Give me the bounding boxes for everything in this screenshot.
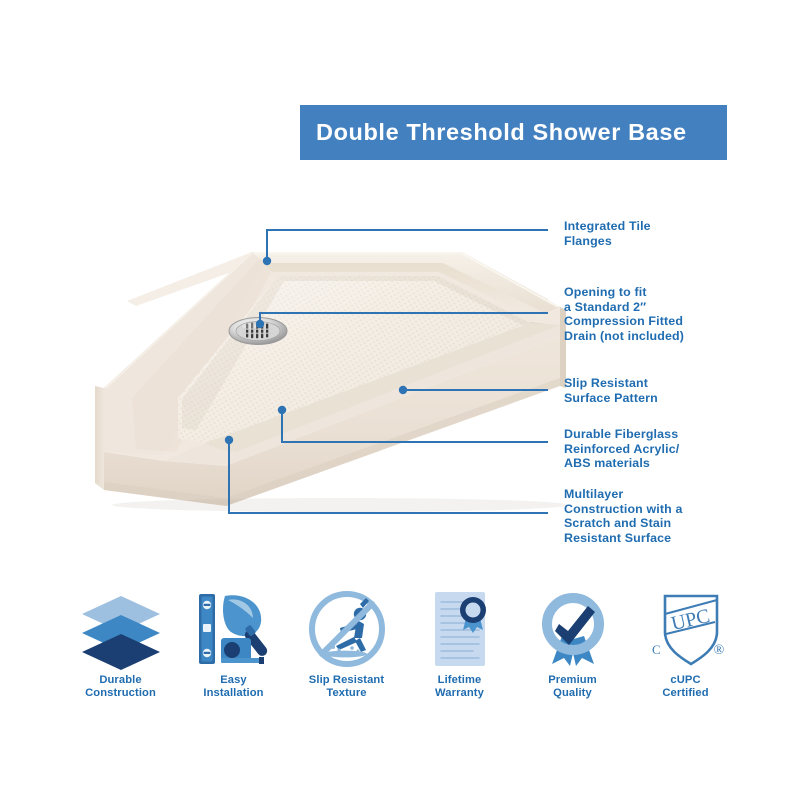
- infographic-canvas: Double Threshold Shower Base Integrated …: [0, 0, 806, 806]
- no-slip-icon: [300, 588, 394, 670]
- upc-shield-band-text: UPC: [669, 605, 712, 635]
- leader-dot-slip-resistant-surface: [399, 386, 407, 394]
- callout-drain-opening: Opening to fit a Standard 2″ Compression…: [564, 285, 684, 343]
- leader-line-drain-opening: [260, 313, 548, 324]
- page-title: Double Threshold Shower Base: [316, 119, 687, 146]
- badge-slip-resistant: Slip Resistant Texture: [290, 588, 403, 701]
- check-rosette-icon: [526, 588, 620, 670]
- badge-lifetime-warranty: Lifetime Warranty: [403, 588, 516, 701]
- page-title-banner: Double Threshold Shower Base: [300, 105, 727, 160]
- badge-label-premium-quality: Premium Quality: [548, 674, 597, 701]
- badge-durable-construction: Durable Construction: [64, 588, 177, 701]
- badge-label-slip-resistant: Slip Resistant Texture: [309, 674, 384, 701]
- callout-integrated-tile-flanges: Integrated Tile Flanges: [564, 219, 651, 248]
- feature-badge-row: Durable Construction: [64, 588, 742, 713]
- leader-dot-drain-opening: [256, 320, 264, 328]
- leader-line-durable-materials: [282, 410, 548, 442]
- callout-multilayer-construction: Multilayer Construction with a Scratch a…: [564, 487, 683, 545]
- badge-cupc-certified: UPC C ® cUPC Certified: [629, 588, 742, 701]
- leader-dot-multilayer-construction: [225, 436, 233, 444]
- upc-shield-icon: UPC C ®: [639, 588, 733, 670]
- callout-durable-materials: Durable Fiberglass Reinforced Acrylic/ A…: [564, 427, 679, 471]
- badge-label-durable-construction: Durable Construction: [85, 674, 156, 701]
- badge-label-easy-installation: Easy Installation: [203, 674, 263, 701]
- badge-premium-quality: Premium Quality: [516, 588, 629, 701]
- leader-dot-durable-materials: [278, 406, 286, 414]
- upc-shield-left-mark: C: [652, 642, 661, 657]
- callout-slip-resistant-surface: Slip Resistant Surface Pattern: [564, 376, 658, 405]
- badge-label-lifetime-warranty: Lifetime Warranty: [435, 674, 484, 701]
- badge-label-cupc-certified: cUPC Certified: [662, 674, 708, 701]
- badge-easy-installation: Easy Installation: [177, 588, 290, 701]
- leader-line-integrated-tile-flanges: [267, 230, 548, 261]
- leader-line-multilayer-construction: [229, 440, 548, 513]
- leader-dot-integrated-tile-flanges: [263, 257, 271, 265]
- level-trowel-icon: [187, 588, 281, 670]
- layers-icon: [74, 588, 168, 670]
- certificate-icon: [413, 588, 507, 670]
- upc-shield-right-mark: ®: [713, 643, 724, 658]
